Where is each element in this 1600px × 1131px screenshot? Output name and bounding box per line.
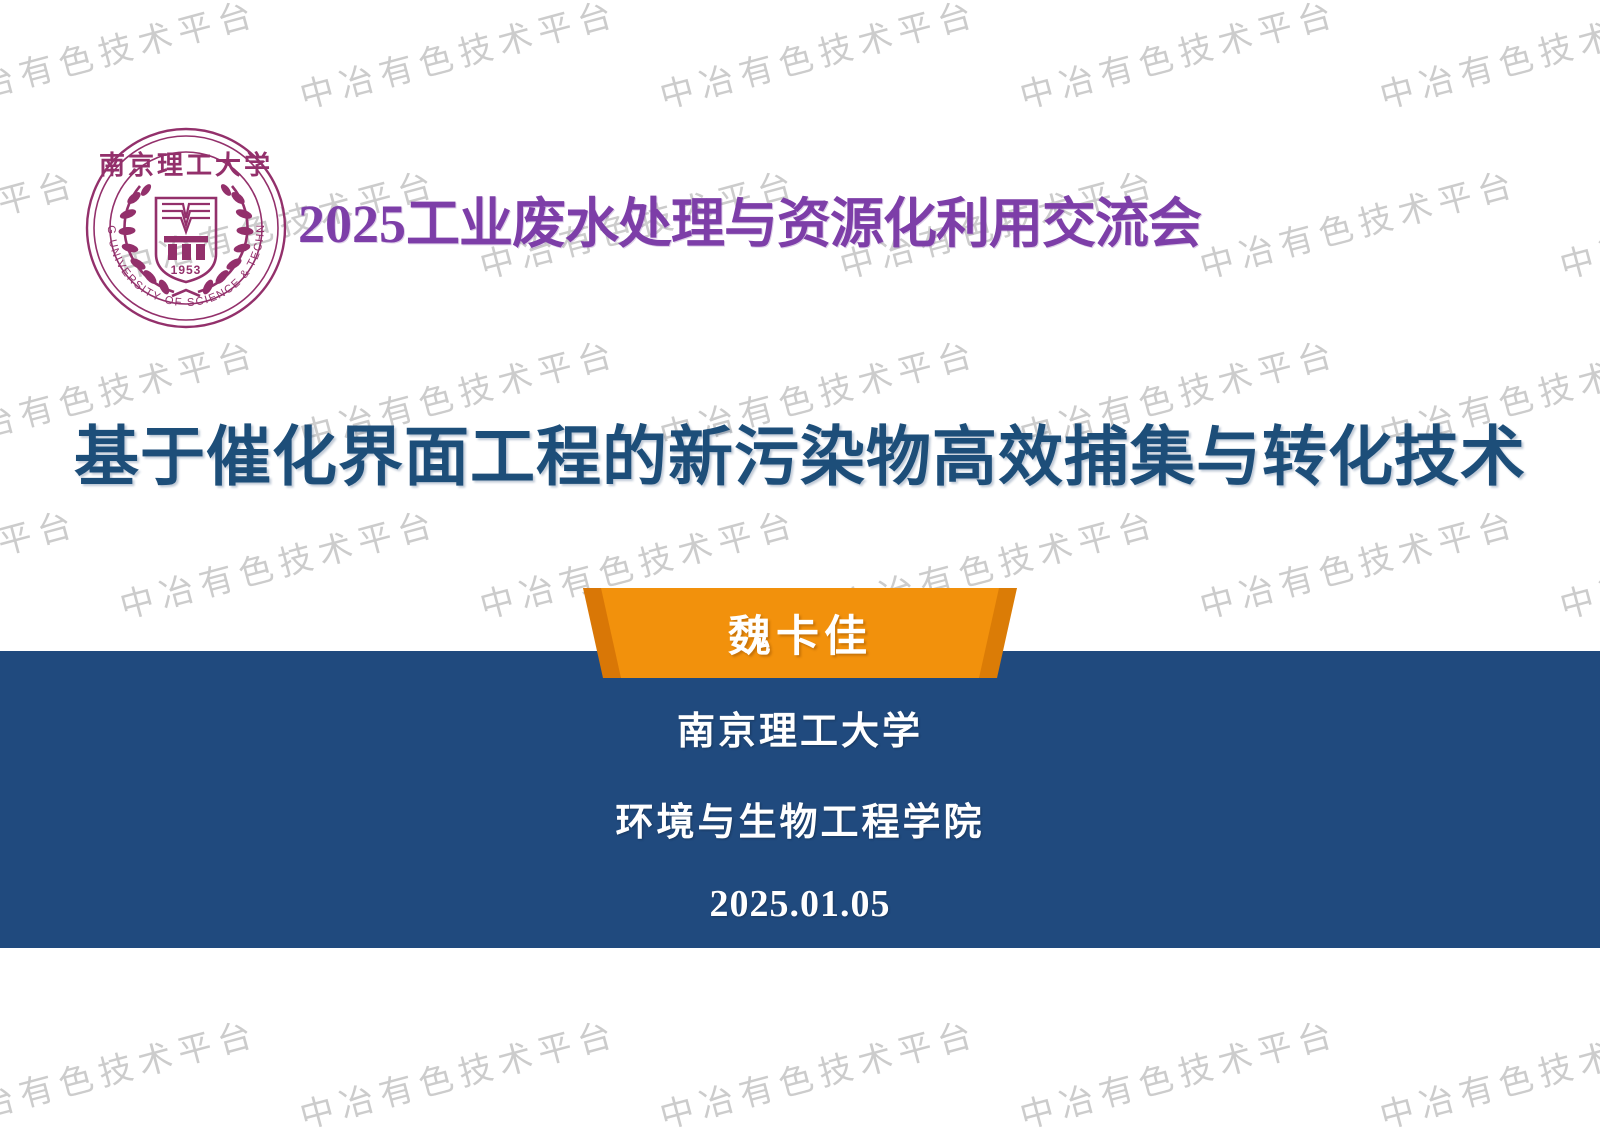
university-logo-icon: NANJING UNIVERSITY OF SCIENCE & TECHNOLO… [84, 126, 288, 330]
watermark-text: 中冶有色技术平台 [1374, 0, 1600, 118]
watermark-text: 中冶有色技术平台 [294, 1006, 624, 1131]
svg-text:南京理工大学: 南京理工大学 [99, 150, 273, 181]
school-name: 环境与生物工程学院 [0, 791, 1600, 846]
university-name: 南京理工大学 [0, 700, 1600, 755]
watermark-text: 中冶有色技术平台 [1194, 156, 1524, 288]
presentation-title-slide: NANJING UNIVERSITY OF SCIENCE & TECHNOLO… [0, 0, 1600, 1131]
watermark-text: 中冶有色技术平台 [654, 0, 984, 118]
conference-year: 2025 [298, 194, 406, 254]
conference-name: 工业废水处理与资源化利用交流会 [406, 194, 1201, 254]
watermark-text: 中冶有色技术平台 [0, 156, 83, 288]
watermark-text: 中冶有色技术平台 [114, 496, 444, 628]
watermark-text: 中冶有色技术平台 [294, 0, 624, 118]
watermark-text: 中冶有色技术平台 [1014, 1006, 1344, 1131]
watermark-text: 中冶有色技术平台 [0, 496, 83, 628]
affiliation-block: 南京理工大学 环境与生物工程学院 2025.01.05 [0, 700, 1600, 926]
speaker-name-ribbon: 魏卡佳 [575, 588, 1025, 678]
watermark-text: 中冶有色技术平台 [0, 0, 263, 118]
watermark-text: 中冶有色技术平台 [1374, 1006, 1600, 1131]
speaker-name: 魏卡佳 [575, 588, 1025, 678]
watermark-text: 中冶有色技术平台 [1014, 0, 1344, 118]
svg-text:1953: 1953 [171, 263, 202, 277]
watermark-text: 中冶有色技术平台 [0, 1006, 263, 1131]
presentation-date: 2025.01.05 [0, 882, 1600, 926]
watermark-text: 中冶有色技术平台 [1194, 496, 1524, 628]
watermark-text: 中冶有色技术平台 [1554, 156, 1600, 288]
page-title: 基于催化界面工程的新污染物高效捕集与转化技术 [0, 404, 1600, 498]
conference-title: 2025工业废水处理与资源化利用交流会 [298, 196, 1201, 253]
watermark-text: 中冶有色技术平台 [1554, 496, 1600, 628]
watermark-text: 中冶有色技术平台 [654, 1006, 984, 1131]
